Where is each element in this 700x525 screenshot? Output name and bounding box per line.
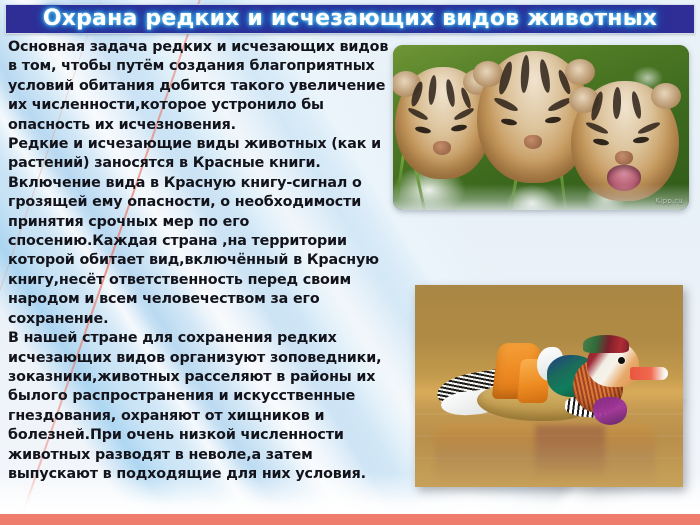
stripe [453, 106, 475, 122]
ear [651, 83, 681, 109]
stripe [612, 87, 621, 119]
tiger-cub-right [571, 81, 679, 201]
title-banner: Охрана редких и исчезающих видов животны… [5, 4, 695, 34]
eye [593, 138, 610, 147]
nose [615, 151, 633, 165]
paragraph-3: В нашей стране для сохранения редких исч… [8, 329, 400, 484]
stripe [493, 96, 519, 114]
duck-crest [583, 335, 629, 353]
duck-reflection-head [535, 425, 605, 477]
bottom-accent-bar [0, 514, 700, 525]
nose [433, 141, 451, 155]
eye [451, 124, 468, 133]
nose [524, 135, 542, 149]
photo-watermark: Kipp.ru [655, 197, 683, 205]
ear [565, 59, 595, 85]
paragraph-2: Редкие и исчезающие виды животных (как и… [8, 135, 400, 329]
eye [545, 116, 562, 124]
paragraph-1: Основная задача редких и исчезающих видо… [8, 38, 400, 135]
stripe [407, 106, 429, 122]
open-mouth [607, 165, 641, 191]
stripe [585, 120, 609, 135]
page-title: Охрана редких и исчезающих видов животны… [43, 8, 657, 30]
stripe [630, 91, 643, 120]
duck-bill [630, 367, 668, 380]
tiger-cubs-photo: Kipp.ru [393, 45, 689, 210]
stripe [538, 59, 552, 94]
stripe [445, 79, 457, 108]
eye [415, 125, 432, 134]
body-text-block: Основная задача редких и исчезающих видо… [8, 38, 400, 484]
mandarin-duck-photo [415, 285, 683, 487]
stripe [637, 120, 661, 135]
eye [633, 136, 650, 144]
stripe [520, 55, 531, 93]
presentation-slide: Охрана редких и исчезающих видов животны… [0, 0, 700, 525]
duck-eye [618, 357, 625, 364]
eye [501, 118, 518, 127]
stripe [427, 75, 437, 106]
duck-purple-breast [593, 397, 627, 425]
